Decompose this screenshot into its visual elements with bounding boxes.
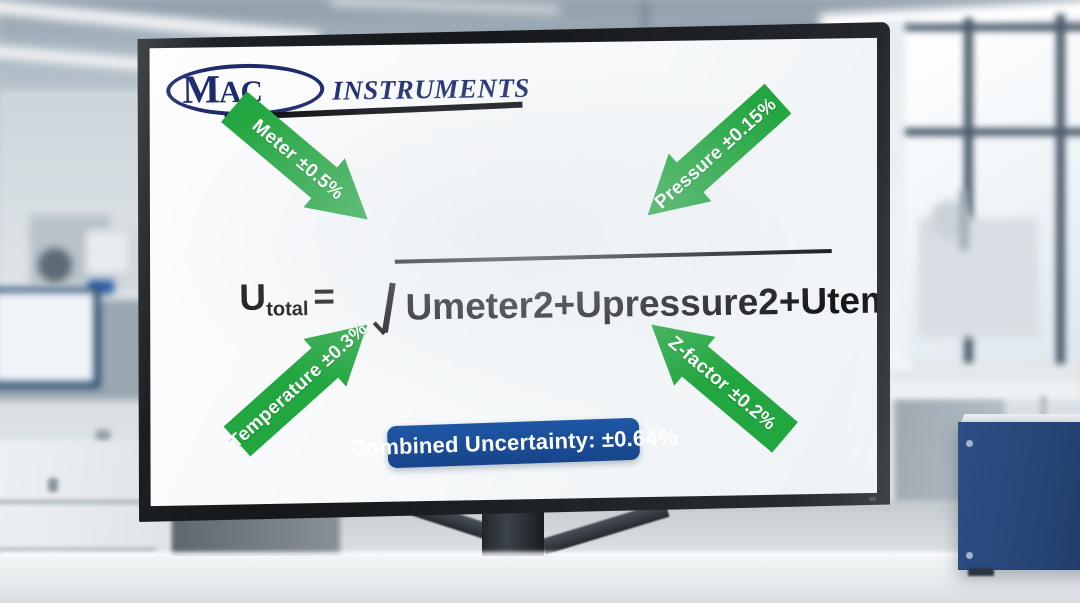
desktop-monitor: MAC INSTRUMENTS Utotal= Umeter2+Upressur… bbox=[0, 0, 1080, 603]
term-exponent: 2 bbox=[533, 284, 554, 325]
radical-sign-icon bbox=[372, 276, 403, 334]
combined-uncertainty-badge: Combined Uncertainty: ±0.64% bbox=[387, 418, 640, 469]
mac-instruments-logo: MAC INSTRUMENTS bbox=[166, 54, 537, 123]
blue-equipment-enclosure bbox=[958, 422, 1080, 570]
formula-plus: + bbox=[778, 281, 800, 322]
power-led-icon[interactable] bbox=[869, 497, 876, 501]
term-symbol: U bbox=[800, 280, 827, 321]
monitor-screen[interactable]: MAC INSTRUMENTS Utotal= Umeter2+Upressur… bbox=[147, 36, 877, 508]
term-exponent: 2 bbox=[758, 281, 779, 322]
formula-plus: + bbox=[553, 284, 575, 325]
formula-u-symbol: U bbox=[239, 277, 266, 318]
arrow-pressure: Pressure ±0.15% bbox=[626, 75, 799, 239]
logo-wordmark: INSTRUMENTS bbox=[332, 73, 530, 107]
enclosure-foot bbox=[968, 568, 994, 576]
scene-root: MAC INSTRUMENTS Utotal= Umeter2+Upressur… bbox=[0, 0, 1080, 603]
term-subscript: temperature bbox=[827, 277, 877, 321]
combined-uncertainty-text: Combined Uncertainty: ±0.64% bbox=[349, 424, 678, 461]
radical-overbar bbox=[395, 249, 832, 264]
formula-u-subscript: total bbox=[266, 298, 309, 321]
term-symbol: U bbox=[405, 286, 432, 327]
enclosure-screw bbox=[966, 440, 973, 447]
term-subscript: meter bbox=[432, 285, 533, 327]
logo-mark-m: M bbox=[182, 66, 219, 112]
formula-radicand: Umeter2+Upressure2+Utemperature2+Uz2 bbox=[405, 277, 877, 328]
desk-surface bbox=[0, 556, 1080, 603]
arrow-label: Pressure ±0.15% bbox=[639, 80, 793, 228]
enclosure-screw bbox=[966, 552, 973, 559]
slide-canvas: MAC INSTRUMENTS Utotal= Umeter2+Upressur… bbox=[147, 36, 877, 508]
term-symbol: U bbox=[575, 284, 602, 325]
